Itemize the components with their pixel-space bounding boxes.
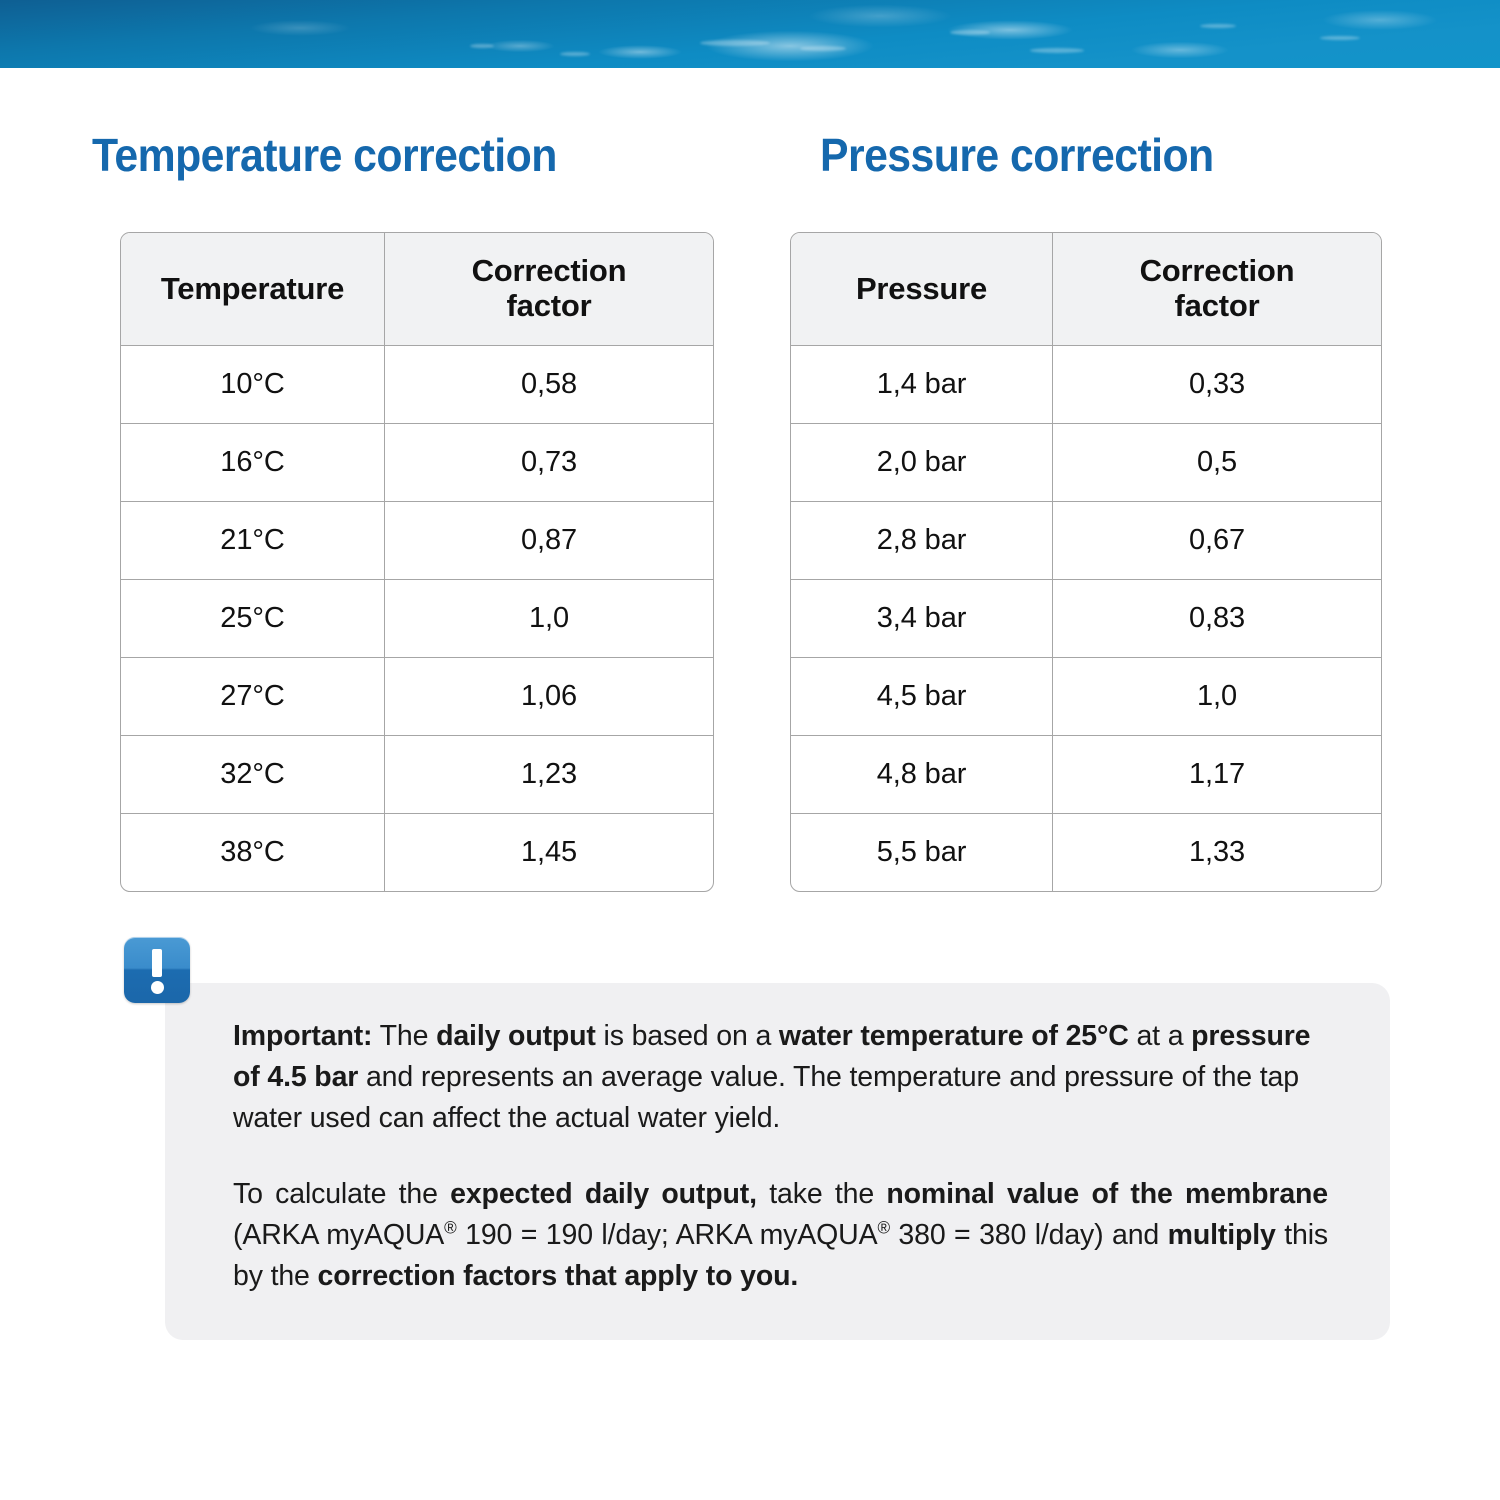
cell-temperature: 25°C — [121, 580, 385, 658]
cell-temperature: 10°C — [121, 346, 385, 424]
notice-paragraph-2: To calculate the expected daily output, … — [233, 1174, 1328, 1296]
table-row: 5,5 bar 1,33 — [791, 814, 1381, 891]
water-ripple-highlight — [1320, 36, 1360, 40]
table-row: 32°C 1,23 — [121, 736, 713, 814]
table-row: 3,4 bar 0,83 — [791, 580, 1381, 658]
correction-factor-line-1: Correction — [1140, 253, 1295, 288]
cell-correction-factor: 0,5 — [1053, 424, 1381, 502]
cell-pressure: 4,5 bar — [791, 658, 1053, 736]
table-row: 38°C 1,45 — [121, 814, 713, 891]
cell-pressure: 5,5 bar — [791, 814, 1053, 891]
cell-correction-factor: 1,17 — [1053, 736, 1381, 814]
water-ripple-highlight — [700, 40, 770, 46]
cell-correction-factor: 0,87 — [385, 502, 713, 580]
table-row: 2,0 bar 0,5 — [791, 424, 1381, 502]
table-row: 27°C 1,06 — [121, 658, 713, 736]
cell-correction-factor: 1,33 — [1053, 814, 1381, 891]
cell-correction-factor: 1,06 — [385, 658, 713, 736]
registered-trademark-symbol: ® — [877, 1219, 889, 1238]
correction-factor-line-2: factor — [507, 288, 592, 323]
water-ripple-highlight — [1030, 48, 1084, 53]
notice-p2-b1: expected daily output, — [450, 1178, 757, 1210]
notice-paragraph-1: Important: The daily output is based on … — [233, 1016, 1328, 1138]
column-header-temperature: Temperature — [121, 233, 385, 346]
table-row: 2,8 bar 0,67 — [791, 502, 1381, 580]
water-ripple-highlight — [470, 44, 494, 48]
water-ripple-highlight — [950, 30, 990, 35]
table-row: 25°C 1,0 — [121, 580, 713, 658]
table-row: 10°C 0,58 — [121, 346, 713, 424]
page-title-temperature-correction: Temperature correction — [92, 128, 557, 182]
notice-p1-t4: and represents an average value. The tem… — [233, 1061, 1299, 1134]
cell-correction-factor: 1,23 — [385, 736, 713, 814]
table-header-row: Pressure Correction factor — [791, 233, 1381, 346]
notice-p1-t2: is based on a — [596, 1020, 779, 1052]
cell-temperature: 27°C — [121, 658, 385, 736]
cell-correction-factor: 0,33 — [1053, 346, 1381, 424]
cell-temperature: 38°C — [121, 814, 385, 891]
pressure-correction-table: Pressure Correction factor 1,4 bar 0,33 … — [790, 232, 1382, 892]
table-row: 4,8 bar 1,17 — [791, 736, 1381, 814]
water-ripple-highlight — [800, 46, 846, 51]
cell-correction-factor: 0,67 — [1053, 502, 1381, 580]
notice-p2-b2: nominal value of the membrane — [886, 1178, 1328, 1210]
cell-pressure: 1,4 bar — [791, 346, 1053, 424]
table-row: 16°C 0,73 — [121, 424, 713, 502]
exclamation-mark-icon — [124, 937, 190, 1003]
table-row: 21°C 0,87 — [121, 502, 713, 580]
water-ripple-highlight — [560, 52, 590, 56]
column-header-correction-factor: Correction factor — [1053, 233, 1381, 346]
page-title-pressure-correction: Pressure correction — [820, 128, 1214, 182]
notice-p2-t5: 380 = 380 l/day) and — [890, 1219, 1168, 1251]
notice-p2-t2: take the — [757, 1178, 887, 1210]
notice-p2-t4: 190 = 190 l/day; ARKA myAQUA — [457, 1219, 878, 1251]
column-header-correction-factor: Correction factor — [385, 233, 713, 346]
registered-trademark-symbol: ® — [444, 1219, 456, 1238]
cell-temperature: 32°C — [121, 736, 385, 814]
water-ripple-highlight — [1200, 24, 1236, 28]
cell-correction-factor: 0,73 — [385, 424, 713, 502]
notice-p2-b3: multiply — [1168, 1219, 1276, 1251]
cell-pressure: 2,0 bar — [791, 424, 1053, 502]
cell-pressure: 4,8 bar — [791, 736, 1053, 814]
cell-correction-factor: 0,83 — [1053, 580, 1381, 658]
notice-p2-b4: correction factors that apply to you. — [318, 1260, 799, 1292]
temperature-correction-table: Temperature Correction factor 10°C 0,58 … — [120, 232, 714, 892]
notice-p1-t3: at a — [1129, 1020, 1191, 1052]
cell-correction-factor: 1,45 — [385, 814, 713, 891]
table-row: 1,4 bar 0,33 — [791, 346, 1381, 424]
cell-pressure: 2,8 bar — [791, 502, 1053, 580]
notice-lead-label: Important: — [233, 1020, 372, 1052]
table-header-row: Temperature Correction factor — [121, 233, 713, 346]
notice-p1-t1: The — [372, 1020, 436, 1052]
water-banner-image — [0, 0, 1500, 68]
cell-correction-factor: 0,58 — [385, 346, 713, 424]
cell-correction-factor: 1,0 — [385, 580, 713, 658]
notice-p2-t3: (ARKA myAQUA — [233, 1219, 444, 1251]
cell-correction-factor: 1,0 — [1053, 658, 1381, 736]
cell-temperature: 21°C — [121, 502, 385, 580]
table-row: 4,5 bar 1,0 — [791, 658, 1381, 736]
correction-factor-line-2: factor — [1175, 288, 1260, 323]
correction-factor-line-1: Correction — [472, 253, 627, 288]
cell-pressure: 3,4 bar — [791, 580, 1053, 658]
notice-p1-b2: water temperature of 25°C — [779, 1020, 1129, 1052]
notice-p1-b1: daily output — [436, 1020, 596, 1052]
exclamation-bar — [152, 949, 162, 977]
exclamation-dot — [151, 981, 164, 994]
important-notice-text: Important: The daily output is based on … — [233, 1016, 1328, 1297]
notice-p2-t1: To calculate the — [233, 1178, 450, 1210]
cell-temperature: 16°C — [121, 424, 385, 502]
column-header-pressure: Pressure — [791, 233, 1053, 346]
